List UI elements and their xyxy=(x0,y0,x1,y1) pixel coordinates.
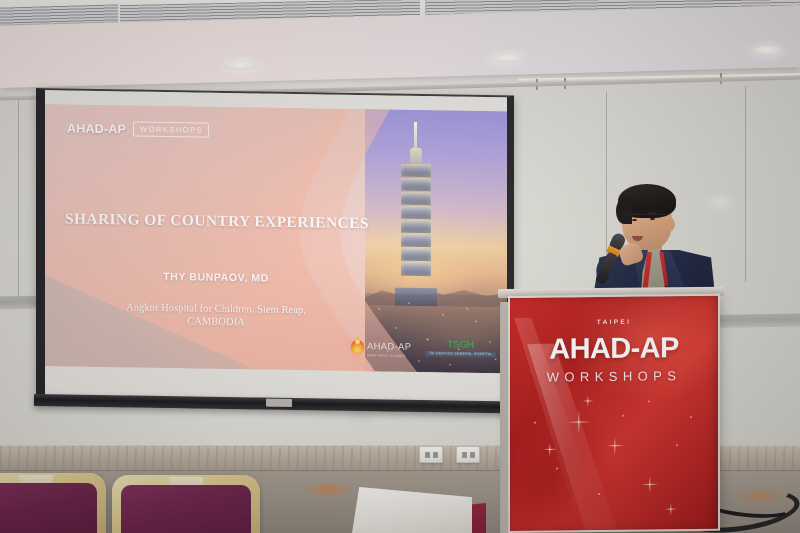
speaker-person xyxy=(592,176,716,304)
banquet-chair[interactable] xyxy=(0,473,106,533)
slide-brand-label: AHAD-AP xyxy=(67,121,126,136)
podium-brand-label: AHAD-AP xyxy=(510,332,718,367)
projection-screen[interactable]: AHAD-AP WORKSHOPS SHARING OF COUNTRY EXP… xyxy=(36,88,514,403)
wall-divider-band xyxy=(0,296,40,310)
slide-workshops-badge: WORKSHOPS xyxy=(133,122,209,138)
podium-subtitle-label: WORKSHOPS xyxy=(510,368,718,385)
slide-header: AHAD-AP WORKSHOPS xyxy=(67,120,209,137)
podium[interactable]: TAIPEI AHAD-AP WORKSHOPS xyxy=(508,294,730,533)
slide-affiliation: Angkor Hospital for Children, Siem Reap,… xyxy=(45,300,387,332)
flame-icon xyxy=(351,340,364,354)
ahad-ap-logo: AHAD-AP ASIAN PACIFIC ALLIANCE xyxy=(351,337,411,358)
podium-front-panel: TAIPEI AHAD-AP WORKSHOPS xyxy=(508,294,720,533)
chair-upholstery xyxy=(121,485,251,533)
chair-upholstery xyxy=(0,483,97,533)
ahad-logo-name: AHAD-AP xyxy=(367,341,411,353)
tsgh-logo: TSGH TRI-SERVICE GENERAL HOSPITAL xyxy=(425,340,495,358)
banquet-chair[interactable] xyxy=(112,475,260,533)
wall-outlet[interactable] xyxy=(419,446,443,463)
conference-photo-scene: AHAD-AP WORKSHOPS SHARING OF COUNTRY EXP… xyxy=(0,0,800,533)
ahad-logo-subtitle: ASIAN PACIFIC ALLIANCE xyxy=(367,354,411,357)
slide-footer-logos: AHAD-AP ASIAN PACIFIC ALLIANCE TSGH TRI-… xyxy=(351,337,496,359)
wall-outlet[interactable] xyxy=(456,446,480,463)
wall-seam xyxy=(745,86,746,282)
glasses-icon xyxy=(624,214,668,224)
hair xyxy=(618,184,676,218)
podium-glow xyxy=(510,296,718,531)
taipei-101-tower xyxy=(401,164,431,290)
tsgh-logo-name: TSGH xyxy=(447,340,474,350)
wall-seam xyxy=(18,96,19,296)
tsgh-logo-subtitle: TRI-SERVICE GENERAL HOSPITAL xyxy=(425,351,495,358)
presentation-slide: AHAD-AP WORKSHOPS SHARING OF COUNTRY EXP… xyxy=(45,104,507,373)
tower-spire xyxy=(414,122,417,150)
screen-surface: AHAD-AP WORKSHOPS SHARING OF COUNTRY EXP… xyxy=(45,90,507,402)
